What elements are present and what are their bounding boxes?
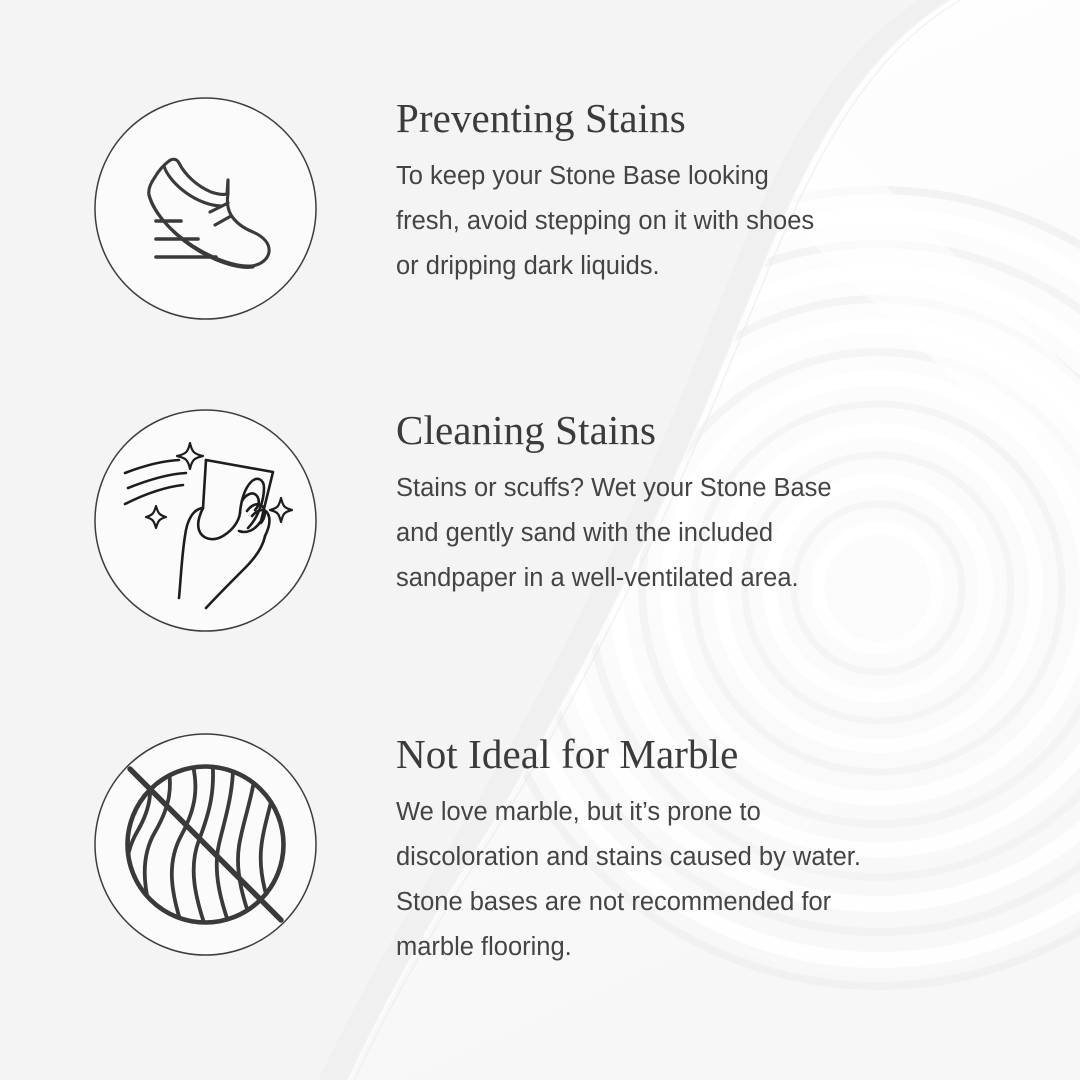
- feature-body: We love marble, but it’s prone to discol…: [396, 790, 996, 970]
- body-line: marble flooring.: [396, 925, 996, 970]
- feature-heading: Not Ideal for Marble: [396, 732, 996, 776]
- body-line: and gently sand with the included: [396, 511, 996, 556]
- body-line: Stains or scuffs? Wet your Stone Base: [396, 466, 996, 511]
- feature-body: Stains or scuffs? Wet your Stone Base an…: [396, 466, 996, 601]
- feature-text: Preventing Stains To keep your Stone Bas…: [396, 96, 996, 289]
- feature-list: Preventing Stains To keep your Stone Bas…: [0, 0, 1080, 1080]
- feature-heading: Cleaning Stains: [396, 408, 996, 452]
- body-line: sandpaper in a well-ventilated area.: [396, 556, 996, 601]
- running-shoe-icon: [93, 96, 318, 321]
- feature-text: Cleaning Stains Stains or scuffs? Wet yo…: [396, 408, 996, 601]
- body-line: We love marble, but it’s prone to: [396, 790, 996, 835]
- feature-heading: Preventing Stains: [396, 96, 996, 140]
- body-line: Stone bases are not recommended for: [396, 880, 996, 925]
- no-marble-icon: [93, 732, 318, 957]
- hand-wiping-cloth-icon: [93, 408, 318, 633]
- body-line: or dripping dark liquids.: [396, 244, 996, 289]
- body-line: fresh, avoid stepping on it with shoes: [396, 199, 996, 244]
- body-line: discoloration and stains caused by water…: [396, 835, 996, 880]
- body-line: To keep your Stone Base looking: [396, 154, 996, 199]
- feature-body: To keep your Stone Base looking fresh, a…: [396, 154, 996, 289]
- feature-text: Not Ideal for Marble We love marble, but…: [396, 732, 996, 970]
